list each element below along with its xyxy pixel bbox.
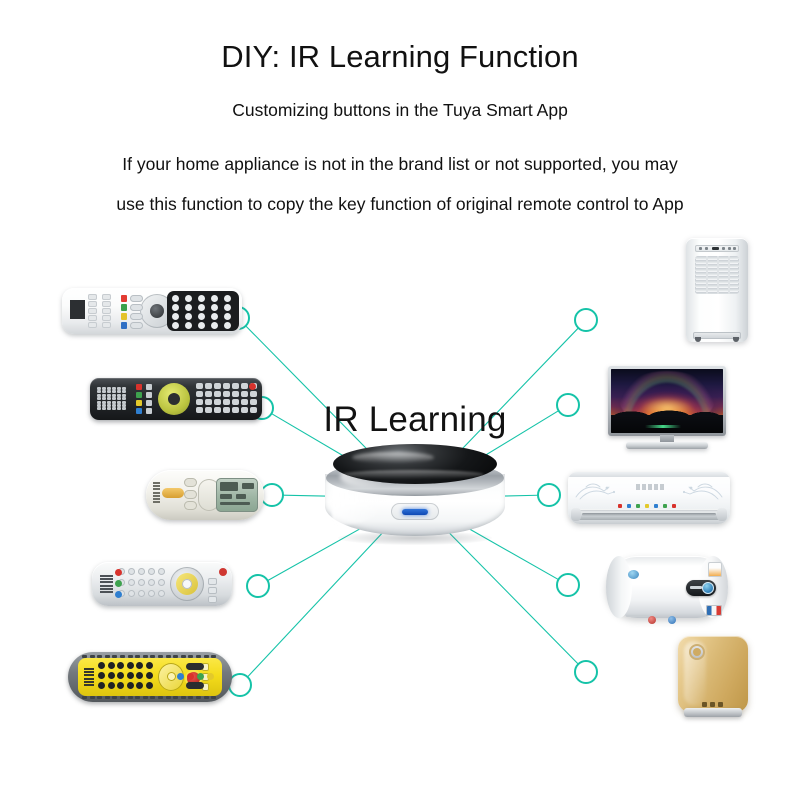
connector-line xyxy=(246,326,382,465)
keypad-button xyxy=(232,399,239,405)
notch xyxy=(158,696,163,699)
remote-body xyxy=(78,658,222,696)
remote-air-conditioner xyxy=(146,470,264,520)
button-grid xyxy=(88,294,116,328)
keypad-button xyxy=(241,407,248,413)
notch xyxy=(90,696,95,699)
keypad-button xyxy=(128,590,135,597)
keypad-button xyxy=(148,590,155,597)
numeric-keypad xyxy=(98,662,154,692)
color-button xyxy=(136,384,142,390)
energy-label xyxy=(708,562,722,577)
lcd-segment xyxy=(220,502,250,505)
menu-button xyxy=(102,294,111,300)
appliance-portable-air-conditioner xyxy=(686,238,748,342)
color-button xyxy=(121,304,127,311)
notch xyxy=(120,655,125,658)
grille-dot xyxy=(107,407,111,410)
notch xyxy=(196,655,201,658)
notch xyxy=(181,655,186,658)
label-line xyxy=(153,488,160,490)
keypad-button xyxy=(223,399,230,405)
connector-line xyxy=(448,531,578,664)
hot-water-port xyxy=(648,616,656,624)
connector-ring xyxy=(575,309,597,331)
notch xyxy=(90,655,95,658)
grille-bar xyxy=(100,578,113,580)
panel-button xyxy=(733,247,736,250)
keypad-button xyxy=(136,662,143,669)
label-line xyxy=(153,501,160,503)
remote-frame xyxy=(68,652,232,702)
top-edge xyxy=(568,472,730,477)
tank-end-left xyxy=(606,556,632,618)
notch xyxy=(150,655,155,658)
notch xyxy=(112,655,117,658)
keypad-button xyxy=(214,383,221,389)
hub-dome-edge xyxy=(342,470,484,479)
rocker-button xyxy=(186,682,204,689)
grille-dot xyxy=(117,397,121,400)
spec-label xyxy=(706,605,722,616)
notch xyxy=(135,655,140,658)
connector-line xyxy=(447,328,578,464)
keypad-button xyxy=(214,399,221,405)
tv-stand-base xyxy=(626,442,708,449)
grille-dot xyxy=(102,397,106,400)
label-line xyxy=(153,498,160,500)
keypad-button xyxy=(223,391,230,397)
menu-button xyxy=(88,301,97,307)
keypad-button xyxy=(158,568,165,575)
label-line xyxy=(84,684,94,686)
tv xyxy=(608,366,726,450)
keypad-button xyxy=(158,590,165,597)
grille-dot xyxy=(107,390,111,393)
vent-divider xyxy=(717,256,719,294)
keypad-button xyxy=(205,383,212,389)
speaker-grille xyxy=(97,387,125,411)
function-button xyxy=(146,384,152,390)
notch xyxy=(166,696,171,699)
panel-button xyxy=(712,247,719,250)
label-line xyxy=(153,492,160,494)
notch xyxy=(135,696,140,699)
function-button xyxy=(208,596,217,603)
hub-dome-gloss xyxy=(352,452,434,463)
keypad-button xyxy=(223,383,230,389)
keypad-button xyxy=(172,295,179,302)
keypad-button xyxy=(196,399,203,405)
keypad-button xyxy=(98,672,105,679)
notch xyxy=(188,696,193,699)
keypad-button xyxy=(127,662,134,669)
keypad-button xyxy=(241,383,248,389)
keypad-button xyxy=(98,662,105,669)
color-button xyxy=(136,392,142,398)
keypad-button xyxy=(146,662,153,669)
logo-glyph xyxy=(718,702,723,707)
appliance-water-heater xyxy=(606,552,728,626)
keypad-button xyxy=(250,399,257,405)
grille-dot xyxy=(97,397,101,400)
color-button xyxy=(115,569,122,576)
keypad-button xyxy=(172,304,179,311)
connector-ring xyxy=(575,661,597,683)
keypad-button xyxy=(172,313,179,320)
notch xyxy=(196,696,201,699)
keypad-button xyxy=(108,662,115,669)
hub-led-indicator xyxy=(402,509,428,515)
keypad-button xyxy=(117,682,124,689)
indicator-led xyxy=(663,504,667,508)
color-button xyxy=(136,400,142,406)
keypad-button xyxy=(108,672,115,679)
power-button xyxy=(219,568,227,576)
grille-dot xyxy=(97,390,101,393)
keypad-button xyxy=(128,579,135,586)
brand-mark xyxy=(702,702,724,707)
grille-dot xyxy=(102,407,106,410)
connector-ring xyxy=(247,575,269,597)
grille-dot xyxy=(117,390,121,393)
keypad-button xyxy=(185,295,192,302)
function-button xyxy=(130,322,143,329)
lcd-display xyxy=(216,478,258,512)
frame-notch-bottom xyxy=(82,696,218,699)
keypad-button xyxy=(198,295,205,302)
air-louver xyxy=(574,509,724,520)
keypad-button xyxy=(108,682,115,689)
color-button xyxy=(115,580,122,587)
grille-dot xyxy=(117,407,121,410)
keypad-button xyxy=(205,391,212,397)
handle xyxy=(689,644,705,660)
vent-divider xyxy=(728,256,730,294)
keypad-button xyxy=(172,322,179,329)
notch xyxy=(173,696,178,699)
logo-glyph xyxy=(648,484,652,490)
grille-dot xyxy=(122,390,126,393)
menu-button xyxy=(88,322,97,328)
keypad-button xyxy=(224,295,231,302)
color-button xyxy=(121,313,127,320)
keypad-button xyxy=(158,579,165,586)
frame-notch-top xyxy=(82,655,218,658)
control-button xyxy=(184,478,197,487)
notch xyxy=(97,696,102,699)
keypad-button xyxy=(224,322,231,329)
remote-body xyxy=(146,470,264,520)
keypad-button xyxy=(117,662,124,669)
keypad-button xyxy=(185,322,192,329)
keypad-button xyxy=(196,383,203,389)
logo-glyph xyxy=(642,484,646,490)
keypad-button xyxy=(198,322,205,329)
remote-black-tv xyxy=(90,378,262,420)
keypad-button xyxy=(250,407,257,413)
grille-dot xyxy=(102,390,106,393)
keypad-button xyxy=(232,407,239,413)
label-line xyxy=(153,495,160,497)
notch xyxy=(143,696,148,699)
indicator-led xyxy=(618,504,622,508)
notch xyxy=(181,696,186,699)
keypad-button xyxy=(185,304,192,311)
grille-dot xyxy=(97,407,101,410)
notch xyxy=(211,696,216,699)
screen-landscape xyxy=(611,415,723,433)
grille-dot xyxy=(112,390,116,393)
label-line xyxy=(84,671,94,673)
keypad-button xyxy=(198,304,205,311)
dpad-center xyxy=(182,579,192,589)
grille-bar xyxy=(100,575,113,577)
logo-glyph xyxy=(660,484,664,490)
keypad-button xyxy=(127,672,134,679)
function-button xyxy=(146,392,152,398)
air-purifier xyxy=(678,636,748,720)
keypad-button xyxy=(148,579,155,586)
lcd-segment xyxy=(236,494,246,499)
color-button xyxy=(207,673,214,680)
floral-pattern-right xyxy=(678,481,724,503)
color-button xyxy=(197,673,204,680)
grille-bar xyxy=(100,581,113,583)
indicator-led xyxy=(636,504,640,508)
keypad-button xyxy=(98,682,105,689)
logo-glyph xyxy=(702,702,707,707)
control-button xyxy=(184,501,197,510)
keypad-button xyxy=(127,682,134,689)
temperature-dial xyxy=(686,580,716,596)
control-button xyxy=(184,490,197,499)
tank-seam xyxy=(626,615,648,617)
indicator-button xyxy=(628,570,639,579)
notch xyxy=(105,655,110,658)
control-panel xyxy=(695,245,739,252)
screen-highlight-strip xyxy=(645,425,681,428)
notch xyxy=(173,655,178,658)
function-button xyxy=(208,578,217,585)
brand-mark xyxy=(636,484,664,490)
keypad-button xyxy=(196,391,203,397)
dpad-center xyxy=(168,393,180,405)
remote-silver-universal xyxy=(92,562,232,606)
lcd-segment xyxy=(242,483,254,489)
notch xyxy=(105,696,110,699)
panel-button xyxy=(722,247,725,250)
grille-dot xyxy=(112,407,116,410)
keypad-button xyxy=(250,391,257,397)
keypad-button xyxy=(211,313,218,320)
connector-ring xyxy=(229,674,251,696)
caster-left xyxy=(695,337,701,342)
grille-dot xyxy=(122,407,126,410)
rocker-button xyxy=(186,663,204,670)
logo-glyph xyxy=(636,484,640,490)
dpad-center xyxy=(150,304,164,318)
connector-ring xyxy=(557,394,579,416)
keypad-button xyxy=(128,568,135,575)
indicator-led xyxy=(654,504,658,508)
label-line xyxy=(84,678,94,680)
indicator-led xyxy=(672,504,676,508)
keypad-button xyxy=(223,407,230,413)
grille-bar xyxy=(100,588,113,590)
hub-label: IR Learning xyxy=(318,400,512,440)
menu-button xyxy=(102,301,111,307)
notch xyxy=(112,696,117,699)
notch xyxy=(128,655,133,658)
connector-ring xyxy=(538,484,560,506)
record-button xyxy=(249,383,256,390)
keypad-button xyxy=(136,672,143,679)
remote-yellow-cable xyxy=(68,652,232,702)
keypad-button xyxy=(138,590,145,597)
keypad-button xyxy=(224,304,231,311)
keypad-button xyxy=(214,391,221,397)
function-button xyxy=(130,295,143,302)
menu-button xyxy=(102,315,111,321)
color-button xyxy=(136,408,142,414)
indicator-led xyxy=(627,504,631,508)
function-button xyxy=(208,587,217,594)
tv-screen xyxy=(611,369,723,433)
notch xyxy=(143,655,148,658)
connector-ring xyxy=(557,574,579,596)
lcd-segment xyxy=(220,494,232,499)
logo-glyph xyxy=(654,484,658,490)
function-button xyxy=(130,313,143,320)
notch xyxy=(82,655,87,658)
label-strip xyxy=(84,668,94,686)
color-button xyxy=(187,673,194,680)
lcd-segment xyxy=(220,482,238,491)
purifier-base xyxy=(684,708,742,717)
floral-pattern-left xyxy=(574,481,620,503)
notch xyxy=(150,696,155,699)
notch xyxy=(158,655,163,658)
notch xyxy=(82,696,87,699)
water-heater xyxy=(606,552,728,626)
notch xyxy=(188,655,193,658)
grille-dot xyxy=(112,397,116,400)
keypad-button xyxy=(232,391,239,397)
keypad-button xyxy=(211,295,218,302)
speaker-grille xyxy=(70,300,84,321)
notch xyxy=(211,655,216,658)
appliance-air-purifier xyxy=(678,636,748,720)
caster-right xyxy=(733,337,739,342)
appliance-television xyxy=(608,366,726,450)
notch xyxy=(204,655,209,658)
keypad-button xyxy=(232,383,239,389)
notch xyxy=(120,696,125,699)
connector-ring xyxy=(261,484,283,506)
appliance-split-air-conditioner xyxy=(568,472,730,524)
color-button xyxy=(121,322,127,329)
grille-bar xyxy=(100,585,113,587)
label-line xyxy=(84,668,94,670)
notch xyxy=(128,696,133,699)
label-line xyxy=(84,681,94,683)
speaker-grille xyxy=(100,575,113,593)
keypad-button xyxy=(136,682,143,689)
panel-button xyxy=(728,247,731,250)
air-vent xyxy=(695,256,739,294)
cold-water-port xyxy=(668,616,676,624)
label-strip xyxy=(153,482,160,504)
keypad-button xyxy=(185,313,192,320)
label-line xyxy=(153,485,160,487)
menu-button xyxy=(88,294,97,300)
keypad-button xyxy=(146,682,153,689)
keypad-button xyxy=(241,391,248,397)
keypad-button xyxy=(198,313,205,320)
color-button xyxy=(121,295,127,302)
remote-body xyxy=(92,562,232,606)
function-button xyxy=(130,304,143,311)
panel-button xyxy=(705,247,708,250)
ir-blaster-hub: IR Learning xyxy=(322,448,508,548)
keypad-button xyxy=(211,322,218,329)
grille-bar xyxy=(100,591,113,593)
keypad-button xyxy=(138,568,145,575)
grille-dot xyxy=(122,397,126,400)
color-button xyxy=(115,591,122,598)
numeric-keypad xyxy=(118,568,166,600)
vent-divider xyxy=(706,256,708,294)
label-line xyxy=(84,674,94,676)
remote-body xyxy=(90,378,262,420)
keypad-button xyxy=(205,407,212,413)
notch xyxy=(204,696,209,699)
label-line xyxy=(153,482,160,484)
power-button xyxy=(162,488,184,498)
menu-button xyxy=(102,308,111,314)
appliance-body xyxy=(568,472,730,524)
menu-button xyxy=(88,315,97,321)
keypad-button xyxy=(117,672,124,679)
function-button xyxy=(146,400,152,406)
remote-white-tv xyxy=(62,288,242,334)
keypad-button xyxy=(138,579,145,586)
color-button xyxy=(177,673,184,680)
keypad-button xyxy=(196,407,203,413)
notch xyxy=(97,655,102,658)
keypad-button xyxy=(241,399,248,405)
grille-dot xyxy=(107,397,111,400)
keypad-button xyxy=(146,672,153,679)
keypad-button xyxy=(224,313,231,320)
end-cap-right xyxy=(717,508,727,521)
menu-button xyxy=(88,308,97,314)
indicator-led xyxy=(645,504,649,508)
keypad-button xyxy=(148,568,155,575)
panel-button xyxy=(699,247,702,250)
keypad-button xyxy=(205,399,212,405)
end-cap-left xyxy=(571,508,581,521)
keypad-button xyxy=(211,304,218,311)
remote-body xyxy=(62,288,242,334)
dpad-center xyxy=(167,672,176,681)
grille-bar xyxy=(82,300,85,319)
logo-glyph xyxy=(710,702,715,707)
menu-button xyxy=(102,322,111,328)
keypad-button xyxy=(214,407,221,413)
connection-diagram: IR Learning xyxy=(0,0,800,800)
